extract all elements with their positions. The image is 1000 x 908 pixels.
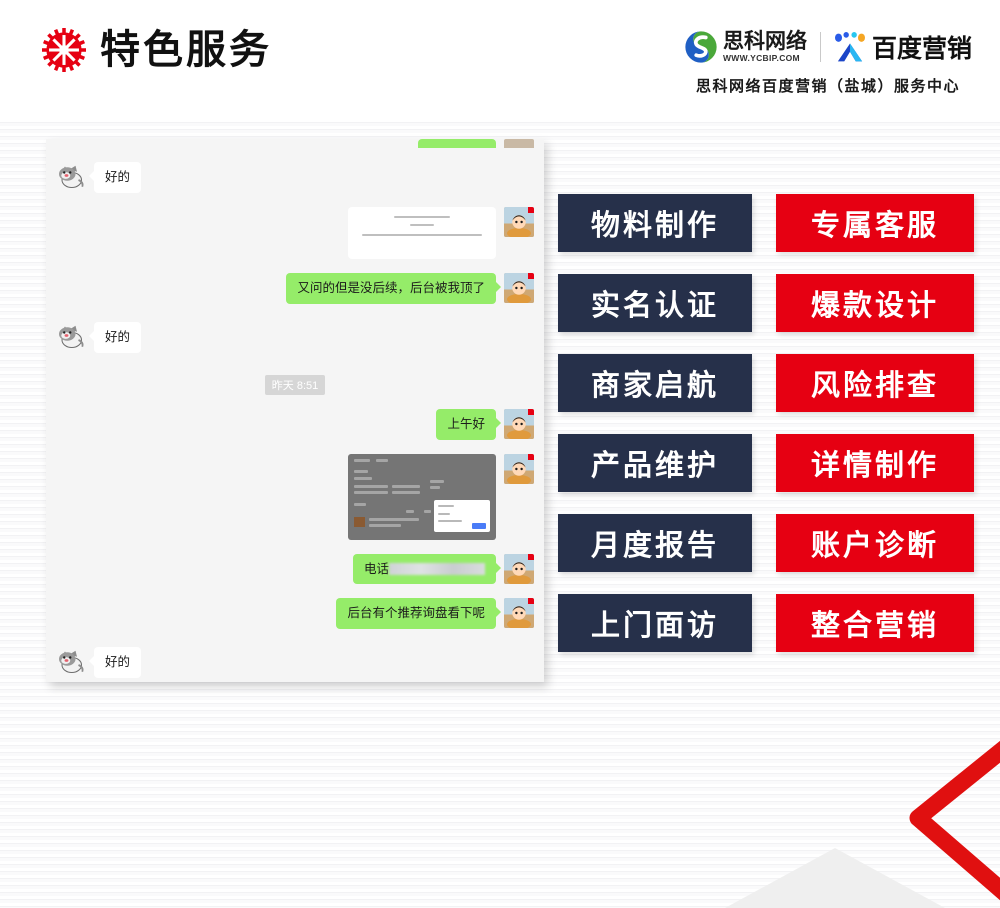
cat-avatar xyxy=(56,647,86,677)
service-button-dedicated-support[interactable]: 专属客服 xyxy=(776,194,974,252)
chat-bubble-label: 电话 xyxy=(364,562,389,576)
sike-s-logo-icon xyxy=(684,30,718,64)
chat-bubble-text: 又问的但是没后续，后台被我顶了 xyxy=(286,273,496,304)
chat-bubble-text: 上午好 xyxy=(436,409,496,440)
chat-bubble-text: 后台有个推荐询盘看下呢 xyxy=(336,598,496,629)
chat-bubble-text: 好的 xyxy=(94,162,141,193)
page-header: 特色服务 思科网络 WWW.YCBIP.COM xyxy=(0,0,1000,120)
service-button-hit-product-design[interactable]: 爆款设计 xyxy=(776,274,974,332)
gear-icon xyxy=(42,28,86,72)
sike-name: 思科网络 xyxy=(723,31,807,52)
boy-avatar xyxy=(504,554,534,584)
chat-timestamp-label: 昨天 8:51 xyxy=(265,375,325,395)
service-button-monthly-report[interactable]: 月度报告 xyxy=(558,514,752,572)
poster-page: 特色服务 思科网络 WWW.YCBIP.COM xyxy=(0,0,1000,908)
sike-url: WWW.YCBIP.COM xyxy=(723,54,807,63)
baidu-name: 百度营销 xyxy=(872,29,972,65)
service-button-material-production[interactable]: 物料制作 xyxy=(558,194,752,252)
chat-timestamp: 昨天 8:51 xyxy=(46,375,544,395)
logo-row: 思科网络 WWW.YCBIP.COM xyxy=(684,26,972,68)
chat-message-row: 好的 xyxy=(46,322,544,353)
chat-message-list: 好的 xyxy=(46,139,544,682)
cat-avatar xyxy=(56,162,86,192)
chat-image-inner-dialog xyxy=(434,500,490,532)
boy-avatar xyxy=(504,207,534,237)
chat-message-row: 又问的但是没后续，后台被我顶了 xyxy=(46,273,544,304)
service-button-merchant-launch[interactable]: 商家启航 xyxy=(558,354,752,412)
chat-message-row: 后台有个推荐询盘看下呢 xyxy=(46,598,544,629)
boy-avatar xyxy=(504,598,534,628)
service-button-grid: 物料制作 专属客服 实名认证 爆款设计 商家启航 风险排查 产品维护 详情制作 … xyxy=(558,194,974,652)
chat-message-row xyxy=(46,454,544,540)
chat-message-row: 好的 xyxy=(46,647,544,678)
page-title: 特色服务 xyxy=(100,30,272,70)
chat-bubble-partial xyxy=(418,139,496,148)
chat-bubble-text: 好的 xyxy=(94,322,141,353)
chat-image-gray-card[interactable] xyxy=(348,454,496,540)
boy-avatar xyxy=(504,409,534,439)
cat-avatar xyxy=(56,322,86,352)
boy-avatar xyxy=(504,139,534,148)
sike-network-logo: 思科网络 WWW.YCBIP.COM xyxy=(684,30,807,64)
boy-avatar xyxy=(504,454,534,484)
redacted-phone-number xyxy=(389,563,485,575)
partner-logo-lockup: 思科网络 WWW.YCBIP.COM xyxy=(684,26,972,96)
service-button-real-name-verification[interactable]: 实名认证 xyxy=(558,274,752,332)
chat-image-white-card[interactable] xyxy=(348,207,496,259)
chat-message-row xyxy=(46,207,544,259)
chat-message-cutoff xyxy=(46,139,544,148)
chevron-left-decoration-icon xyxy=(844,726,1000,908)
logo-divider xyxy=(820,32,821,62)
service-button-product-maintenance[interactable]: 产品维护 xyxy=(558,434,752,492)
chat-message-row: 好的 xyxy=(46,162,544,193)
brand-block: 特色服务 xyxy=(42,28,272,72)
chat-message-row: 上午好 xyxy=(46,409,544,440)
service-button-onsite-visit[interactable]: 上门面访 xyxy=(558,594,752,652)
service-button-account-diagnosis[interactable]: 账户诊断 xyxy=(776,514,974,572)
service-button-integrated-marketing[interactable]: 整合营销 xyxy=(776,594,974,652)
logo-caption: 思科网络百度营销（盐城）服务中心 xyxy=(696,75,960,96)
baidu-marketing-logo: 百度营销 xyxy=(834,29,972,65)
boy-avatar xyxy=(504,273,534,303)
chat-bubble-text-redacted: 电话 xyxy=(353,554,496,585)
chat-bubble-text: 好的 xyxy=(94,647,141,678)
sike-wordmark: 思科网络 WWW.YCBIP.COM xyxy=(723,31,807,63)
chat-message-row: 电话 xyxy=(46,554,544,585)
baidu-bear-paw-icon xyxy=(834,32,866,62)
chat-screenshot-card: 好的 xyxy=(46,139,544,682)
service-button-risk-inspection[interactable]: 风险排查 xyxy=(776,354,974,412)
service-button-detail-page-production[interactable]: 详情制作 xyxy=(776,434,974,492)
